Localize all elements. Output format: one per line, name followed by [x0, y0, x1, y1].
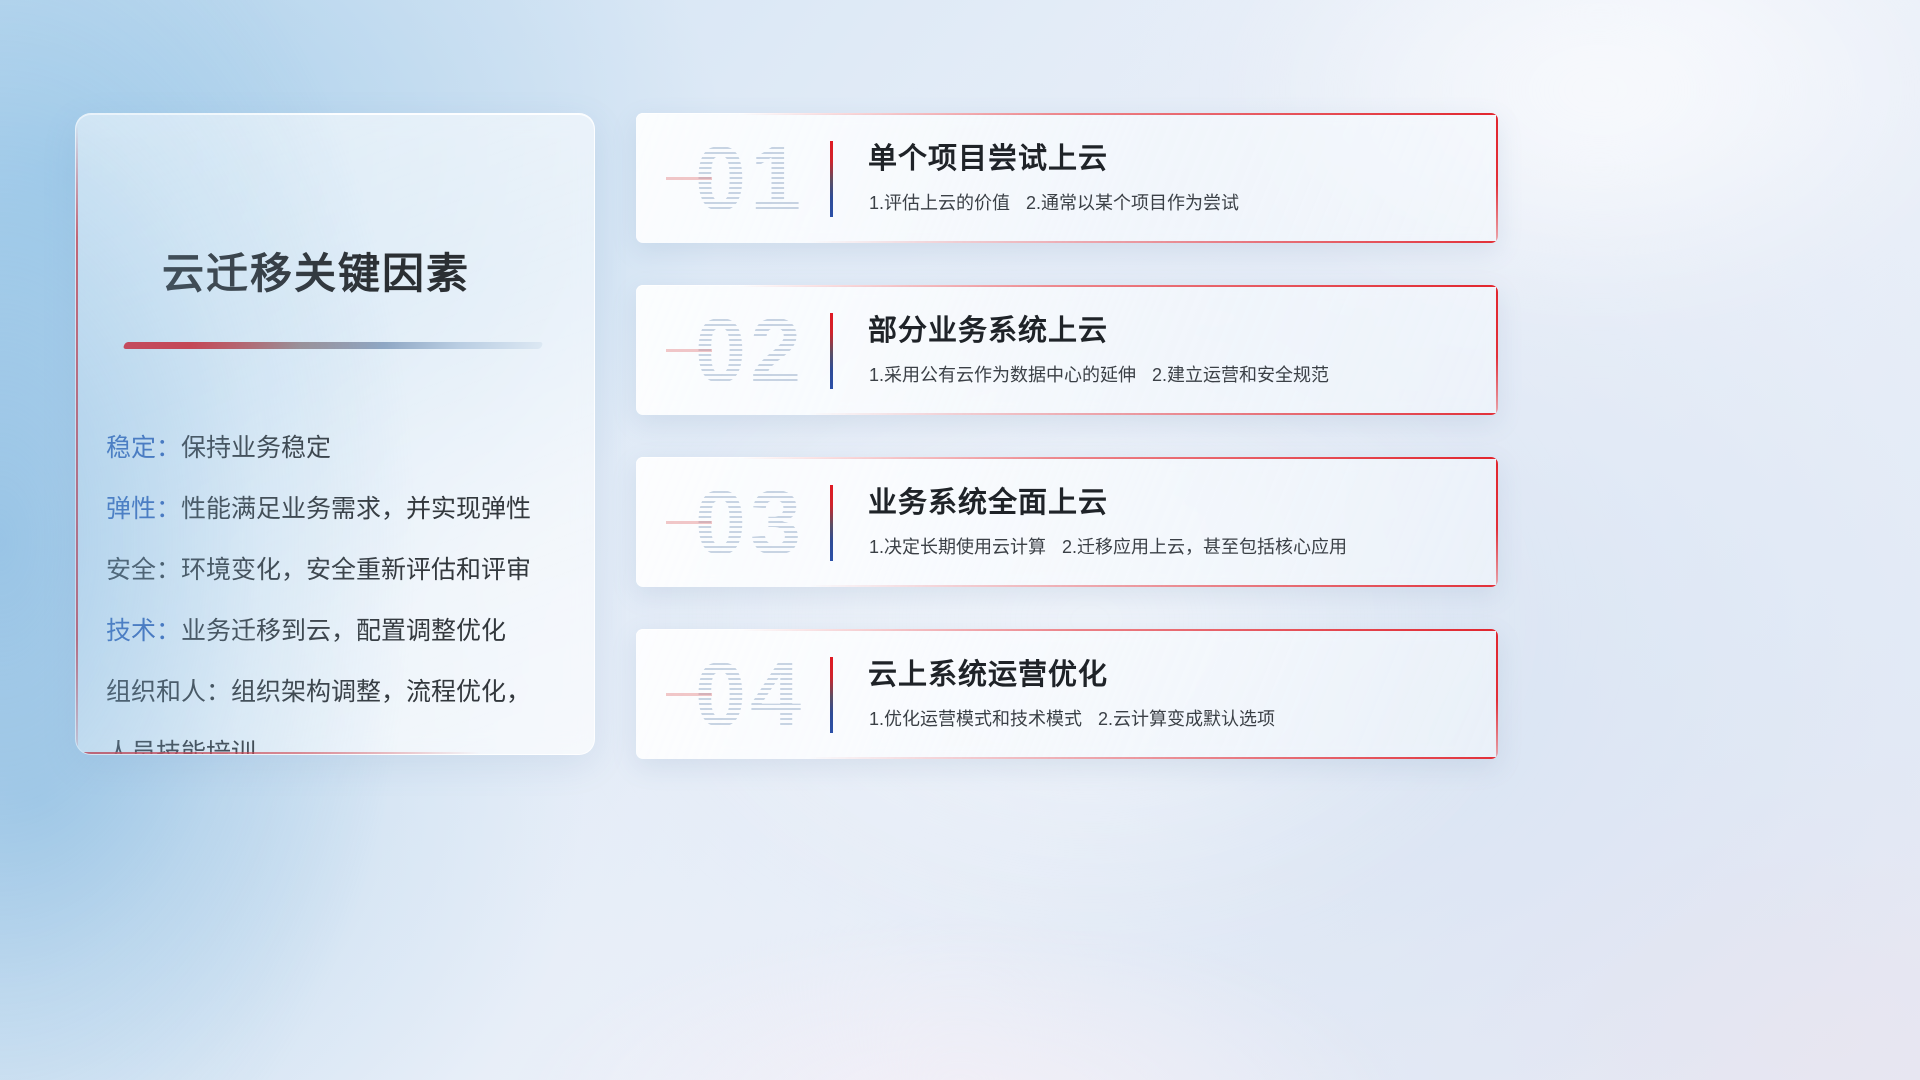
- key-factors-list: 稳定：保持业务稳定弹性：性能满足业务需求，并实现弹性安全：环境变化，安全重新评估…: [106, 418, 574, 755]
- factor-label: 组织和人：: [106, 678, 231, 706]
- step-description-part-2: 2.建立运营和安全规范: [1152, 365, 1329, 385]
- step-number-watermark: 04: [660, 643, 840, 747]
- slide-canvas: 云迁移关键因素 稳定：保持业务稳定弹性：性能满足业务需求，并实现弹性安全：环境变…: [0, 0, 1920, 1080]
- card-right-accent-line: [1496, 285, 1498, 415]
- step-number-watermark: 01: [660, 127, 840, 231]
- card-bottom-accent-line: [808, 413, 1498, 415]
- card-top-accent-line: [739, 113, 1498, 115]
- factor-label: 稳定：: [106, 434, 181, 462]
- step-description-part-1: 1.评估上云的价值: [869, 193, 1010, 213]
- step-title: 云上系统运营优化: [868, 651, 1108, 693]
- page-title: 云迁移关键因素: [162, 240, 470, 301]
- step-card[interactable]: 01单个项目尝试上云1.评估上云的价值2.通常以某个项目作为尝试: [636, 113, 1498, 243]
- factor-item: 技术：业务迁移到云，配置调整优化: [106, 601, 574, 662]
- factor-text: 人员技能培训: [106, 739, 256, 755]
- factor-text: 环境变化，安全重新评估和评审: [181, 556, 531, 584]
- step-title: 单个项目尝试上云: [868, 135, 1108, 177]
- factor-text: 业务迁移到云，配置调整优化: [181, 617, 506, 645]
- step-divider-bar: [830, 313, 833, 389]
- step-divider-bar: [830, 485, 833, 561]
- factor-label: 技术：: [106, 617, 181, 645]
- step-title: 部分业务系统上云: [868, 307, 1108, 349]
- factor-item: 稳定：保持业务稳定: [106, 418, 574, 479]
- step-description: 1.优化运营模式和技术模式2.云计算变成默认选项: [869, 705, 1275, 731]
- step-number-watermark: 02: [660, 299, 840, 403]
- factor-text: 组织架构调整，流程优化，: [231, 678, 531, 706]
- card-bottom-accent-line: [808, 585, 1498, 587]
- step-description: 1.决定长期使用云计算2.迁移应用上云，甚至包括核心应用: [869, 533, 1347, 559]
- factor-item: 安全：环境变化，安全重新评估和评审: [106, 540, 574, 601]
- step-card[interactable]: 04云上系统运营优化1.优化运营模式和技术模式2.云计算变成默认选项: [636, 629, 1498, 759]
- factor-label: 弹性：: [106, 495, 181, 523]
- step-description-part-2: 2.迁移应用上云，甚至包括核心应用: [1062, 537, 1347, 557]
- step-card[interactable]: 02部分业务系统上云1.采用公有云作为数据中心的延伸2.建立运营和安全规范: [636, 285, 1498, 415]
- step-description-part-2: 2.云计算变成默认选项: [1098, 709, 1275, 729]
- step-divider-bar: [830, 657, 833, 733]
- step-description-part-1: 1.采用公有云作为数据中心的延伸: [869, 365, 1136, 385]
- step-description: 1.评估上云的价值2.通常以某个项目作为尝试: [869, 189, 1239, 215]
- factor-text: 性能满足业务需求，并实现弹性: [181, 495, 531, 523]
- step-number-watermark: 03: [660, 471, 840, 575]
- key-factors-panel: 云迁移关键因素 稳定：保持业务稳定弹性：性能满足业务需求，并实现弹性安全：环境变…: [75, 113, 595, 755]
- step-title: 业务系统全面上云: [868, 479, 1108, 521]
- step-card[interactable]: 03业务系统全面上云1.决定长期使用云计算2.迁移应用上云，甚至包括核心应用: [636, 457, 1498, 587]
- step-description-part-2: 2.通常以某个项目作为尝试: [1026, 193, 1239, 213]
- step-description: 1.采用公有云作为数据中心的延伸2.建立运营和安全规范: [869, 361, 1329, 387]
- card-right-accent-line: [1496, 113, 1498, 243]
- title-underline-rule: [123, 342, 544, 349]
- card-right-accent-line: [1496, 457, 1498, 587]
- card-right-accent-line: [1496, 629, 1498, 759]
- step-description-part-1: 1.决定长期使用云计算: [869, 537, 1046, 557]
- factor-item: 组织和人：组织架构调整，流程优化，: [106, 662, 574, 723]
- card-top-accent-line: [739, 457, 1498, 459]
- factor-item: 人员技能培训: [106, 723, 574, 755]
- factor-label: 安全：: [106, 556, 181, 584]
- step-description-part-1: 1.优化运营模式和技术模式: [869, 709, 1082, 729]
- factor-item: 弹性：性能满足业务需求，并实现弹性: [106, 479, 574, 540]
- card-bottom-accent-line: [808, 757, 1498, 759]
- factor-text: 保持业务稳定: [181, 434, 331, 462]
- card-bottom-accent-line: [808, 241, 1498, 243]
- card-top-accent-line: [739, 629, 1498, 631]
- card-top-accent-line: [739, 285, 1498, 287]
- step-divider-bar: [830, 141, 833, 217]
